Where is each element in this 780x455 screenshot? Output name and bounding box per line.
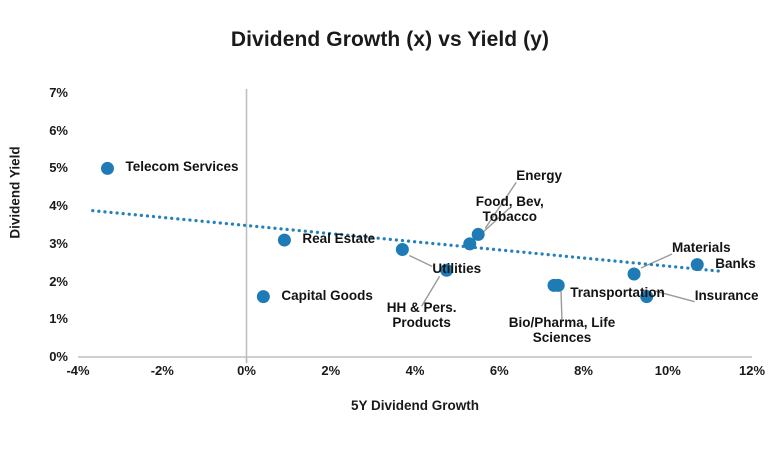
data-point-marker[interactable]	[552, 279, 565, 292]
data-point-marker[interactable]	[472, 228, 485, 241]
trendline	[93, 211, 719, 271]
leader-line	[409, 256, 432, 267]
scatter-chart: Dividend Growth (x) vs Yield (y) Dividen…	[0, 0, 780, 455]
data-point-label: Transportation	[570, 285, 665, 300]
data-point-label: Food, Bev, Tobacco	[476, 194, 544, 224]
data-point-label: Banks	[715, 256, 756, 271]
data-point-label: Telecom Services	[125, 159, 238, 174]
data-point-marker[interactable]	[278, 234, 291, 247]
data-point-marker[interactable]	[257, 290, 270, 303]
data-point-label: Energy	[516, 168, 562, 183]
data-point-marker[interactable]	[691, 258, 704, 271]
data-point-label: HH & Pers. Products	[387, 300, 457, 330]
data-point-label: Insurance	[695, 288, 759, 303]
plot-area	[0, 0, 780, 455]
data-point-label: Bio/Pharma, Life Sciences	[509, 315, 616, 345]
data-point-label: Real Estate	[302, 231, 375, 246]
data-point-marker[interactable]	[628, 268, 641, 281]
data-point-marker[interactable]	[396, 243, 409, 256]
data-point-marker[interactable]	[101, 162, 114, 175]
data-point-label: Materials	[672, 240, 731, 255]
data-point-label: Capital Goods	[281, 288, 373, 303]
data-point-label: Utilities	[432, 261, 481, 276]
